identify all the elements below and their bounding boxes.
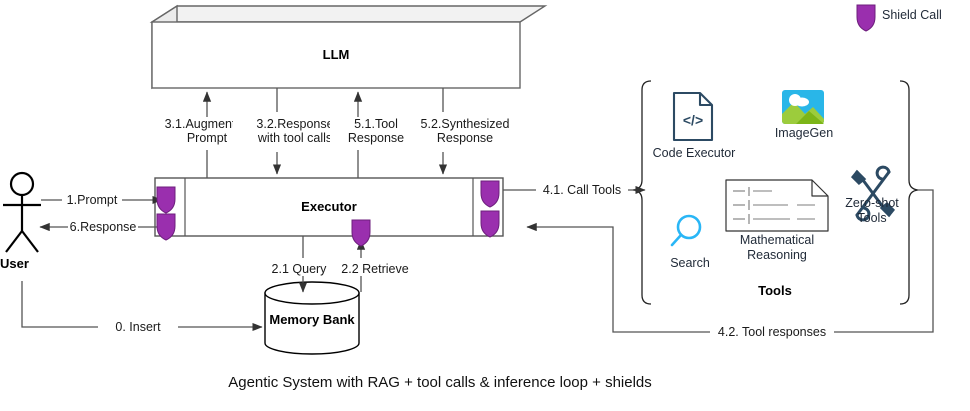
user-label: User xyxy=(0,256,48,271)
search-icon xyxy=(672,216,700,245)
legend-label: Shield Call xyxy=(882,8,968,23)
tool-label-zero-shot-tools: Zero-shot Tools xyxy=(840,196,904,226)
diagram-canvas: </> xyxy=(0,0,970,411)
edge-label-5-2: 5.2.Synthesized Response xyxy=(405,117,525,145)
memory-bank-label: Memory Bank xyxy=(265,312,359,327)
executor-label: Executor xyxy=(185,199,473,214)
user-node[interactable] xyxy=(3,173,41,252)
math-reasoning-icon xyxy=(726,180,828,231)
tool-label-imagegen: ImageGen xyxy=(762,126,846,141)
diagram-caption: Agentic System with RAG + tool calls & i… xyxy=(0,374,880,391)
tool-label-math-reasoning: Mathematical Reasoning xyxy=(722,233,832,263)
svg-text:</>: </> xyxy=(683,112,703,128)
tool-label-code-executor: Code Executor xyxy=(645,146,743,161)
code-executor-icon: </> xyxy=(674,93,712,140)
llm-label: LLM xyxy=(152,47,520,62)
edge-label-1-prompt: 1.Prompt xyxy=(62,193,122,207)
edge-label-0-insert: 0. Insert xyxy=(98,320,178,334)
edge-label-2-1-query: 2.1 Query xyxy=(264,262,334,276)
edge-label-6-response: 6.Response xyxy=(68,220,138,234)
edge-label-4-2-tool-responses: 4.2. Tool responses xyxy=(710,325,834,339)
tool-label-search: Search xyxy=(658,256,722,271)
edge-label-4-1-call-tools: 4.1. Call Tools xyxy=(536,183,628,197)
edge-label-2-2-retrieve: 2.2 Retrieve xyxy=(333,262,417,276)
imagegen-icon xyxy=(782,90,824,124)
tools-group-label: Tools xyxy=(715,283,835,298)
